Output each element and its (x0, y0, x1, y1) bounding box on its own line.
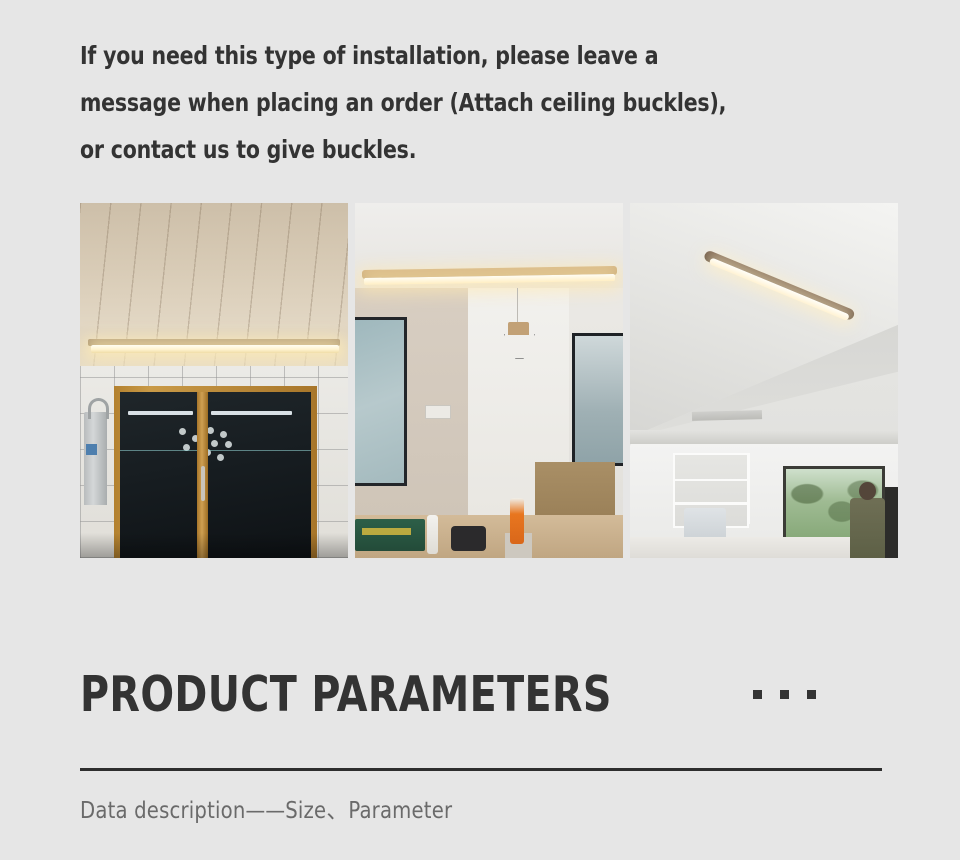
white-bottle (427, 515, 438, 554)
pendant-lamp-cord (517, 288, 518, 324)
dark-framed-mirror (355, 317, 407, 486)
reflected-light-strip-right (211, 411, 291, 416)
black-framed-window (572, 333, 623, 467)
pendant-lamp-shade (508, 322, 529, 335)
dark-tool-object (451, 526, 486, 551)
gallery-photo-white-ceiling-wood-linear-lamp-workroom[interactable] (355, 203, 623, 558)
gallery-photo-wood-plank-ceiling-entry-door[interactable] (80, 203, 348, 558)
shelf-divider (748, 453, 751, 524)
reflected-light-strip-left (128, 411, 192, 416)
ellipsis-dots-icon (753, 690, 816, 699)
wall-meter-box (84, 412, 107, 504)
orange-drink-bottle (510, 498, 523, 544)
section-divider (80, 768, 882, 771)
product-photo-gallery (80, 203, 882, 558)
ceiling-beam (630, 430, 898, 444)
door-handle (201, 466, 205, 502)
linear-lamp-glow (91, 345, 339, 353)
wall-switch-plate (425, 405, 451, 419)
product-parameters-subtitle: Data description——Size、Parameter (80, 796, 842, 826)
product-parameters-header: PRODUCT PARAMETERS (80, 664, 882, 726)
product-parameters-title: PRODUCT PARAMETERS (80, 664, 612, 726)
ellipsis-dot-2 (780, 690, 789, 699)
ellipsis-dot-3 (807, 690, 816, 699)
gallery-photo-sloped-ceiling-dark-linear-lamp[interactable] (630, 203, 898, 558)
green-tool-case (355, 519, 425, 551)
installation-note: If you need this type of installation, p… (80, 32, 833, 173)
reflected-chandelier (176, 427, 246, 466)
person-in-camouflage (850, 498, 885, 558)
reflected-horizon-line (120, 450, 312, 451)
ellipsis-dot-1 (753, 690, 762, 699)
photo-bottom-shadow (80, 533, 348, 558)
product-parameters-section: PRODUCT PARAMETERS Data description——Siz… (80, 664, 882, 826)
person-silhouette-right (885, 487, 898, 558)
ceiling-air-vent (692, 410, 762, 421)
